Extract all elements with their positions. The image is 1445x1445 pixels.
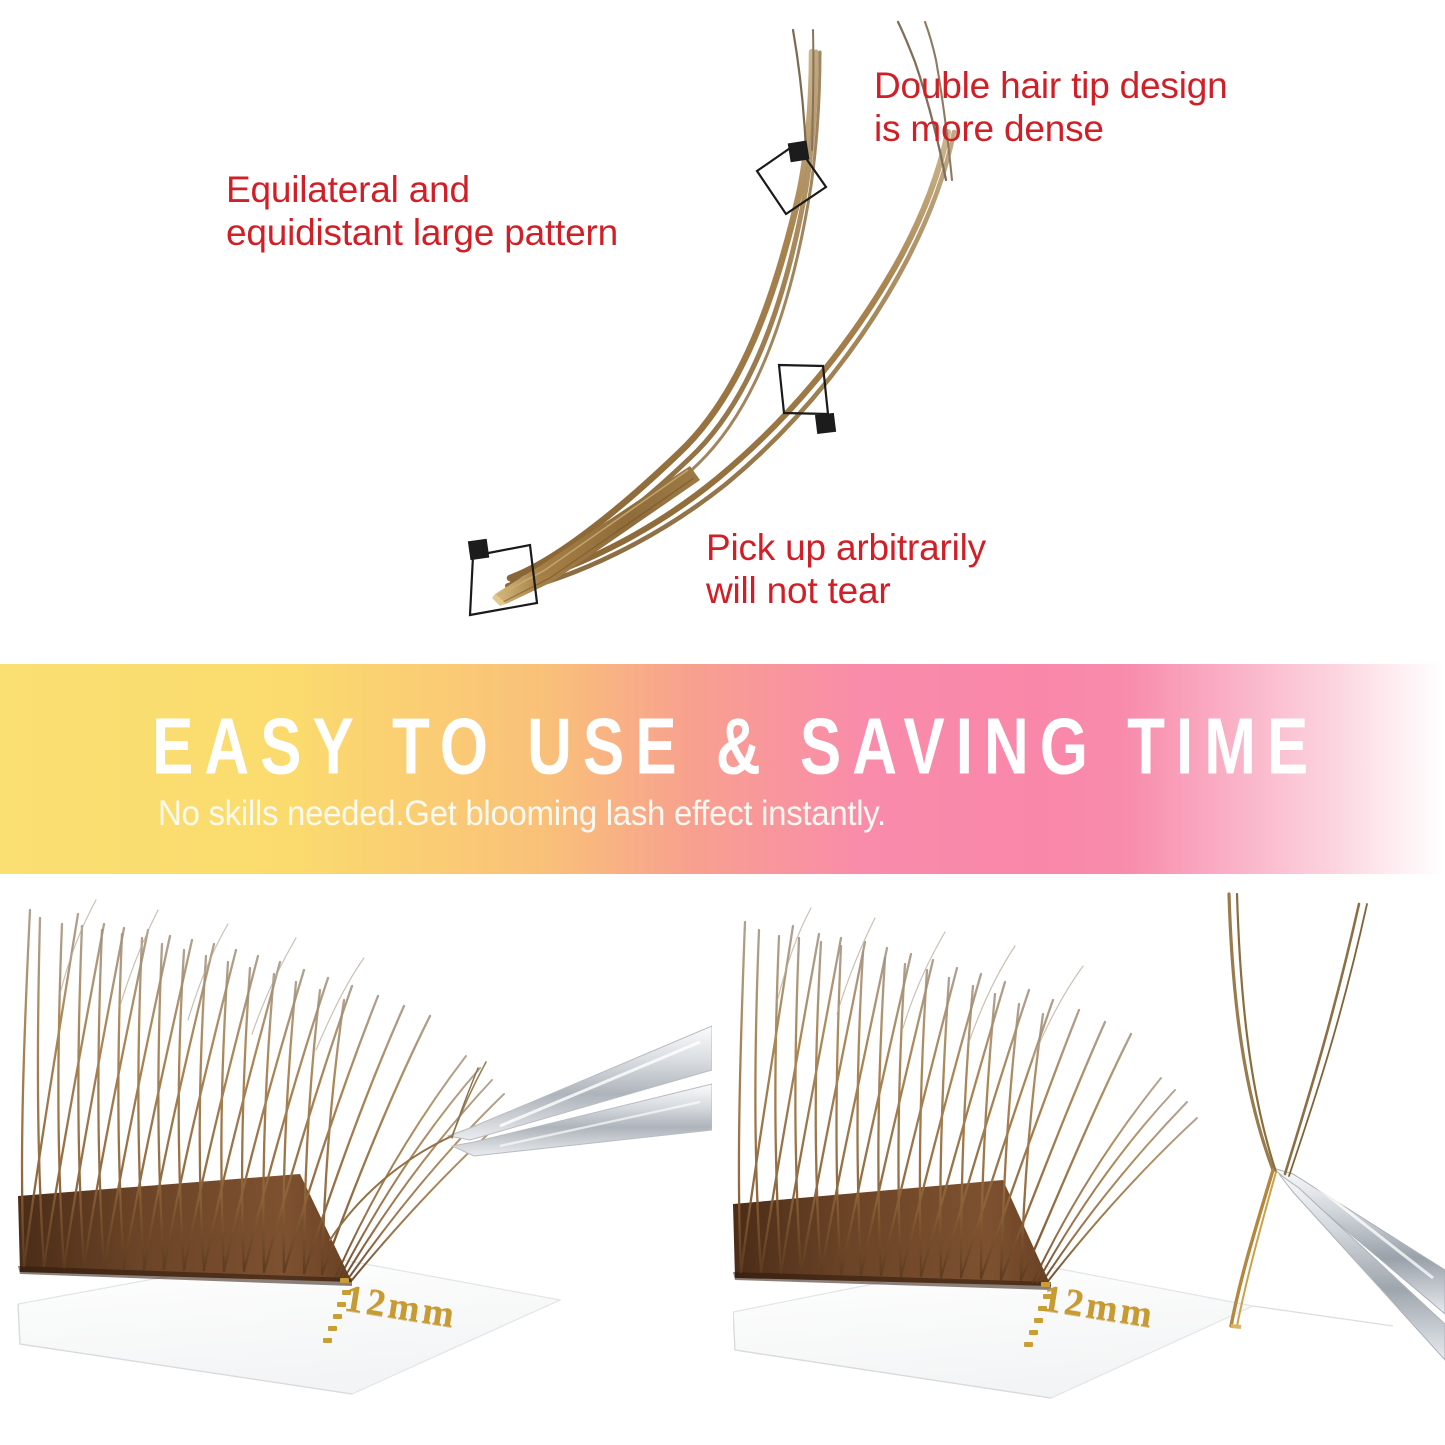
banner-subtitle: No skills needed.Get blooming lash effec… xyxy=(158,795,886,831)
easy-to-use-banner: EASY TO USE & SAVING TIME No skills need… xyxy=(0,664,1445,874)
photo-lash-tray-right xyxy=(733,874,1445,1445)
callout-double-hair-tip: Double hair tip design is more dense xyxy=(874,64,1228,151)
product-photo-row xyxy=(0,874,1445,1445)
lash-fiber-diagram-section: Equilateral and equidistant large patter… xyxy=(0,0,1445,664)
lash-tray-right-illustration xyxy=(733,874,1445,1445)
banner-headline: EASY TO USE & SAVING TIME xyxy=(152,708,1319,787)
callout-equilateral-pattern: Equilateral and equidistant large patter… xyxy=(226,168,618,255)
fiber-strand-main xyxy=(510,52,820,588)
lash-tray-left-illustration xyxy=(0,874,712,1445)
photo-lash-tray-left xyxy=(0,874,712,1445)
callout-pick-up-arbitrarily: Pick up arbitrarily will not tear xyxy=(706,526,986,613)
tweezer-left xyxy=(448,1026,712,1156)
picked-lash-fan-right xyxy=(1229,894,1367,1327)
tweezer-right xyxy=(1273,1168,1445,1360)
lash-base-ribbon xyxy=(492,466,700,606)
product-feature-image: Equilateral and equidistant large patter… xyxy=(0,0,1445,1445)
